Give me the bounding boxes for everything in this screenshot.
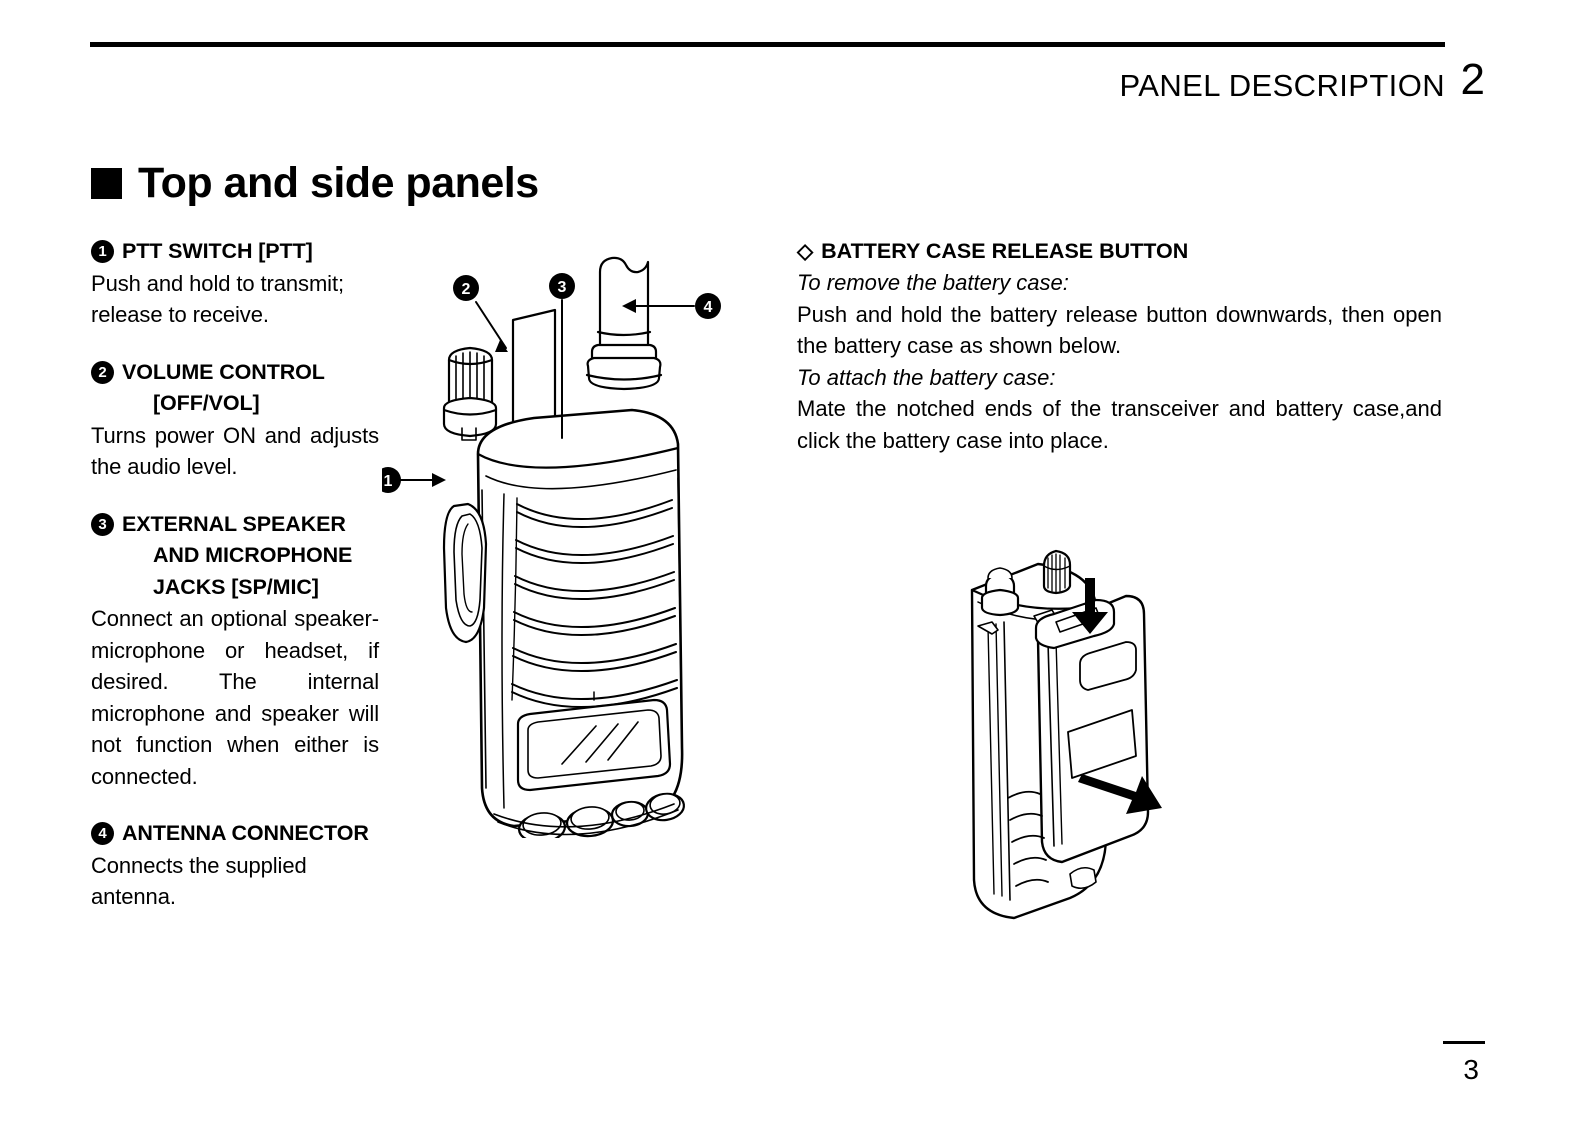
panel-item-2-heading-line-1: VOLUME CONTROL <box>122 360 325 384</box>
header-rule <box>90 42 1445 47</box>
running-header-title: PANEL DESCRIPTION <box>1120 68 1445 104</box>
attach-body: Mate the notched ends of the transceiver… <box>797 393 1442 456</box>
footer-rule <box>1443 1041 1485 1044</box>
svg-text:4: 4 <box>704 299 713 316</box>
panel-item-2-body: Turns power ON and adjusts the audio lev… <box>91 420 379 483</box>
callout-number-2-icon: 2 <box>91 361 114 384</box>
callout-number-4-icon: 4 <box>91 822 114 845</box>
section-heading: Top and side panels <box>91 162 539 205</box>
panel-item-4-body: Connects the supplied antenna. <box>91 850 379 913</box>
battery-removal-illustration <box>930 530 1200 930</box>
volume-knob-graphic <box>444 348 496 440</box>
remove-subheading: To remove the battery case: <box>797 267 1442 299</box>
antenna-graphic <box>587 258 661 389</box>
transceiver-illustration: 2 3 4 1 <box>382 248 742 838</box>
ptt-switch-graphic <box>444 504 486 642</box>
callout-number-1-icon: 1 <box>91 240 114 263</box>
remove-body: Push and hold the battery release button… <box>797 299 1442 362</box>
diamond-bullet-icon: ◇ <box>797 236 813 267</box>
panel-item-3-body: Connect an optional speaker-microphone o… <box>91 603 379 792</box>
panel-item-1: 1 PTT SWITCH [PTT] Push and hold to tran… <box>91 236 379 331</box>
panel-item-4-heading: 4 ANTENNA CONNECTOR <box>91 818 379 850</box>
callout-number-3-icon: 3 <box>91 513 114 536</box>
svg-text:1: 1 <box>384 473 393 490</box>
panel-item-4: 4 ANTENNA CONNECTOR Connects the supplie… <box>91 818 379 913</box>
square-bullet-icon <box>91 168 122 199</box>
left-text-column: 1 PTT SWITCH [PTT] Push and hold to tran… <box>91 236 379 913</box>
panel-item-2-heading: 2 VOLUME CONTROL [OFF/VOL] <box>91 357 379 420</box>
svg-text:3: 3 <box>558 279 567 296</box>
panel-item-2: 2 VOLUME CONTROL [OFF/VOL] Turns power O… <box>91 357 379 483</box>
chapter-number: 2 <box>1461 58 1485 102</box>
battery-release-heading-text: BATTERY CASE RELEASE BUTTON <box>821 236 1188 267</box>
battery-release-heading: ◇ BATTERY CASE RELEASE BUTTON <box>797 236 1442 267</box>
panel-item-3: 3 EXTERNAL SPEAKER AND MICROPHONE JACKS … <box>91 509 379 793</box>
right-text-column: ◇ BATTERY CASE RELEASE BUTTON To remove … <box>797 236 1442 456</box>
section-title: Top and side panels <box>138 162 539 205</box>
panel-item-3-heading-line-2: AND MICROPHONE <box>122 543 352 567</box>
panel-item-3-heading-line-1: EXTERNAL SPEAKER <box>122 512 346 536</box>
panel-item-1-heading-line-1: PTT SWITCH [PTT] <box>122 239 313 263</box>
panel-item-4-heading-line-1: ANTENNA CONNECTOR <box>122 821 369 845</box>
attach-subheading: To attach the battery case: <box>797 362 1442 394</box>
panel-item-3-heading: 3 EXTERNAL SPEAKER AND MICROPHONE JACKS … <box>91 509 379 604</box>
svg-text:2: 2 <box>462 281 471 298</box>
page-number: 3 <box>1463 1056 1479 1084</box>
panel-item-1-body: Push and hold to transmit; release to re… <box>91 268 379 331</box>
panel-item-2-heading-line-2: [OFF/VOL] <box>122 391 260 415</box>
manual-page: PANEL DESCRIPTION 2 Top and side panels … <box>0 0 1575 1122</box>
panel-item-1-heading: 1 PTT SWITCH [PTT] <box>91 236 379 268</box>
panel-item-3-heading-line-3: JACKS [SP/MIC] <box>122 575 319 599</box>
